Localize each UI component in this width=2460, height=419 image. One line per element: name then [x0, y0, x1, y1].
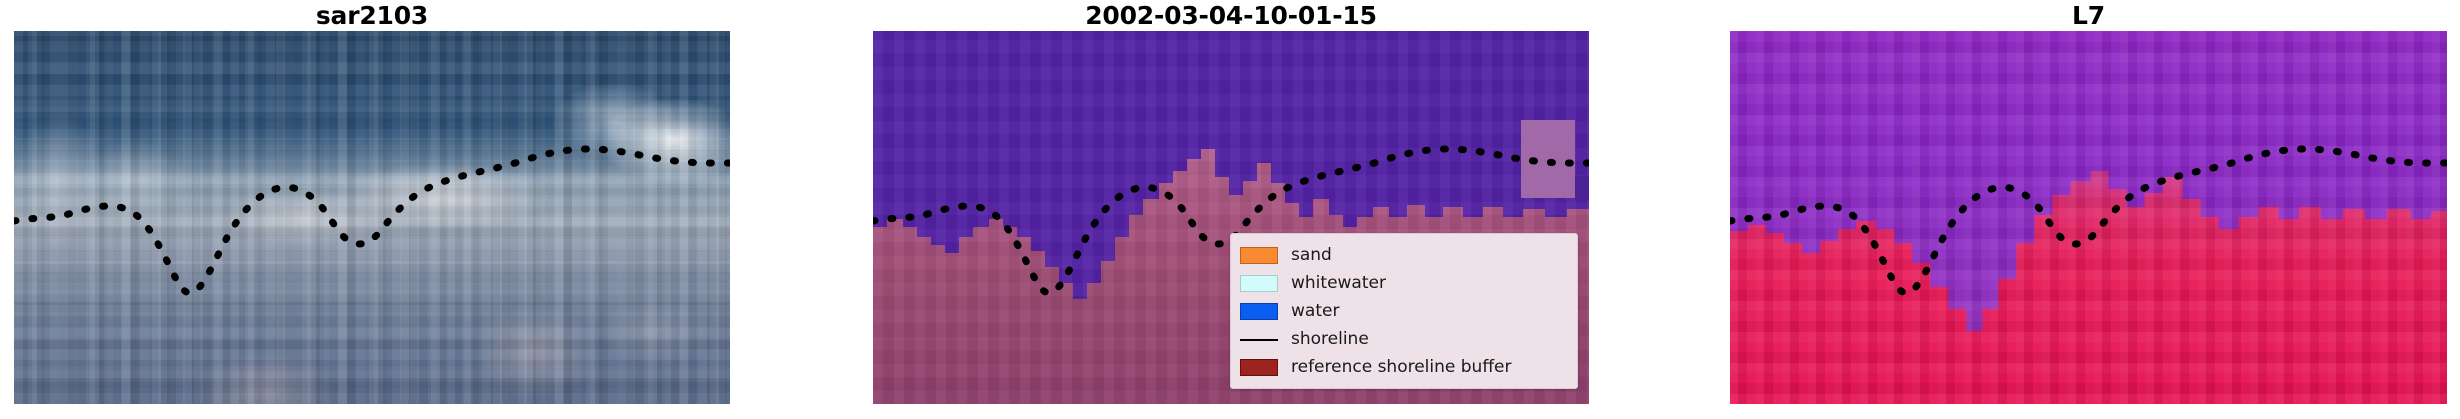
axes-panel-2: sand whitewater water shoreline referenc…: [873, 31, 1589, 404]
legend-item-whitewater: whitewater: [1240, 269, 1568, 297]
legend-swatch-water: [1240, 303, 1278, 320]
class-image-notch: [1521, 120, 1575, 198]
legend-label-shoreline: shoreline: [1291, 329, 1369, 349]
legend-item-shoreline: shoreline: [1240, 325, 1568, 353]
legend-box: sand whitewater water shoreline referenc…: [1230, 233, 1578, 389]
legend-item-reference-shoreline-buffer: reference shoreline buffer: [1240, 353, 1568, 381]
figure-canvas: sar2103 2002-03-04-10-01-15: [0, 0, 2460, 419]
class-image-notch-small: [1575, 176, 1589, 200]
legend-label-water: water: [1291, 301, 1339, 321]
legend-swatch-sand: [1240, 247, 1278, 264]
sar-image-pixelation: [14, 31, 730, 404]
index-image-noise: [1730, 31, 2447, 404]
panel-L7: L7: [1730, 0, 2447, 419]
legend-swatch-whitewater: [1240, 275, 1278, 292]
panel-title-1: sar2103: [14, 2, 730, 30]
legend-label-sand: sand: [1291, 245, 1332, 265]
legend-swatch-shoreline: [1240, 331, 1278, 348]
panel-2002-03-04-10-01-15: 2002-03-04-10-01-15: [873, 0, 1589, 419]
legend-item-sand: sand: [1240, 241, 1568, 269]
axes-panel-3: [1730, 31, 2447, 404]
axes-panel-1: [14, 31, 730, 404]
panel-title-3: L7: [1730, 2, 2447, 30]
legend-item-water: water: [1240, 297, 1568, 325]
legend-label-reference-shoreline-buffer: reference shoreline buffer: [1291, 357, 1512, 377]
panel-sar2103: sar2103: [14, 0, 730, 419]
legend-swatch-reference-shoreline-buffer: [1240, 359, 1278, 376]
legend-label-whitewater: whitewater: [1291, 273, 1386, 293]
panel-title-2: 2002-03-04-10-01-15: [873, 2, 1589, 30]
